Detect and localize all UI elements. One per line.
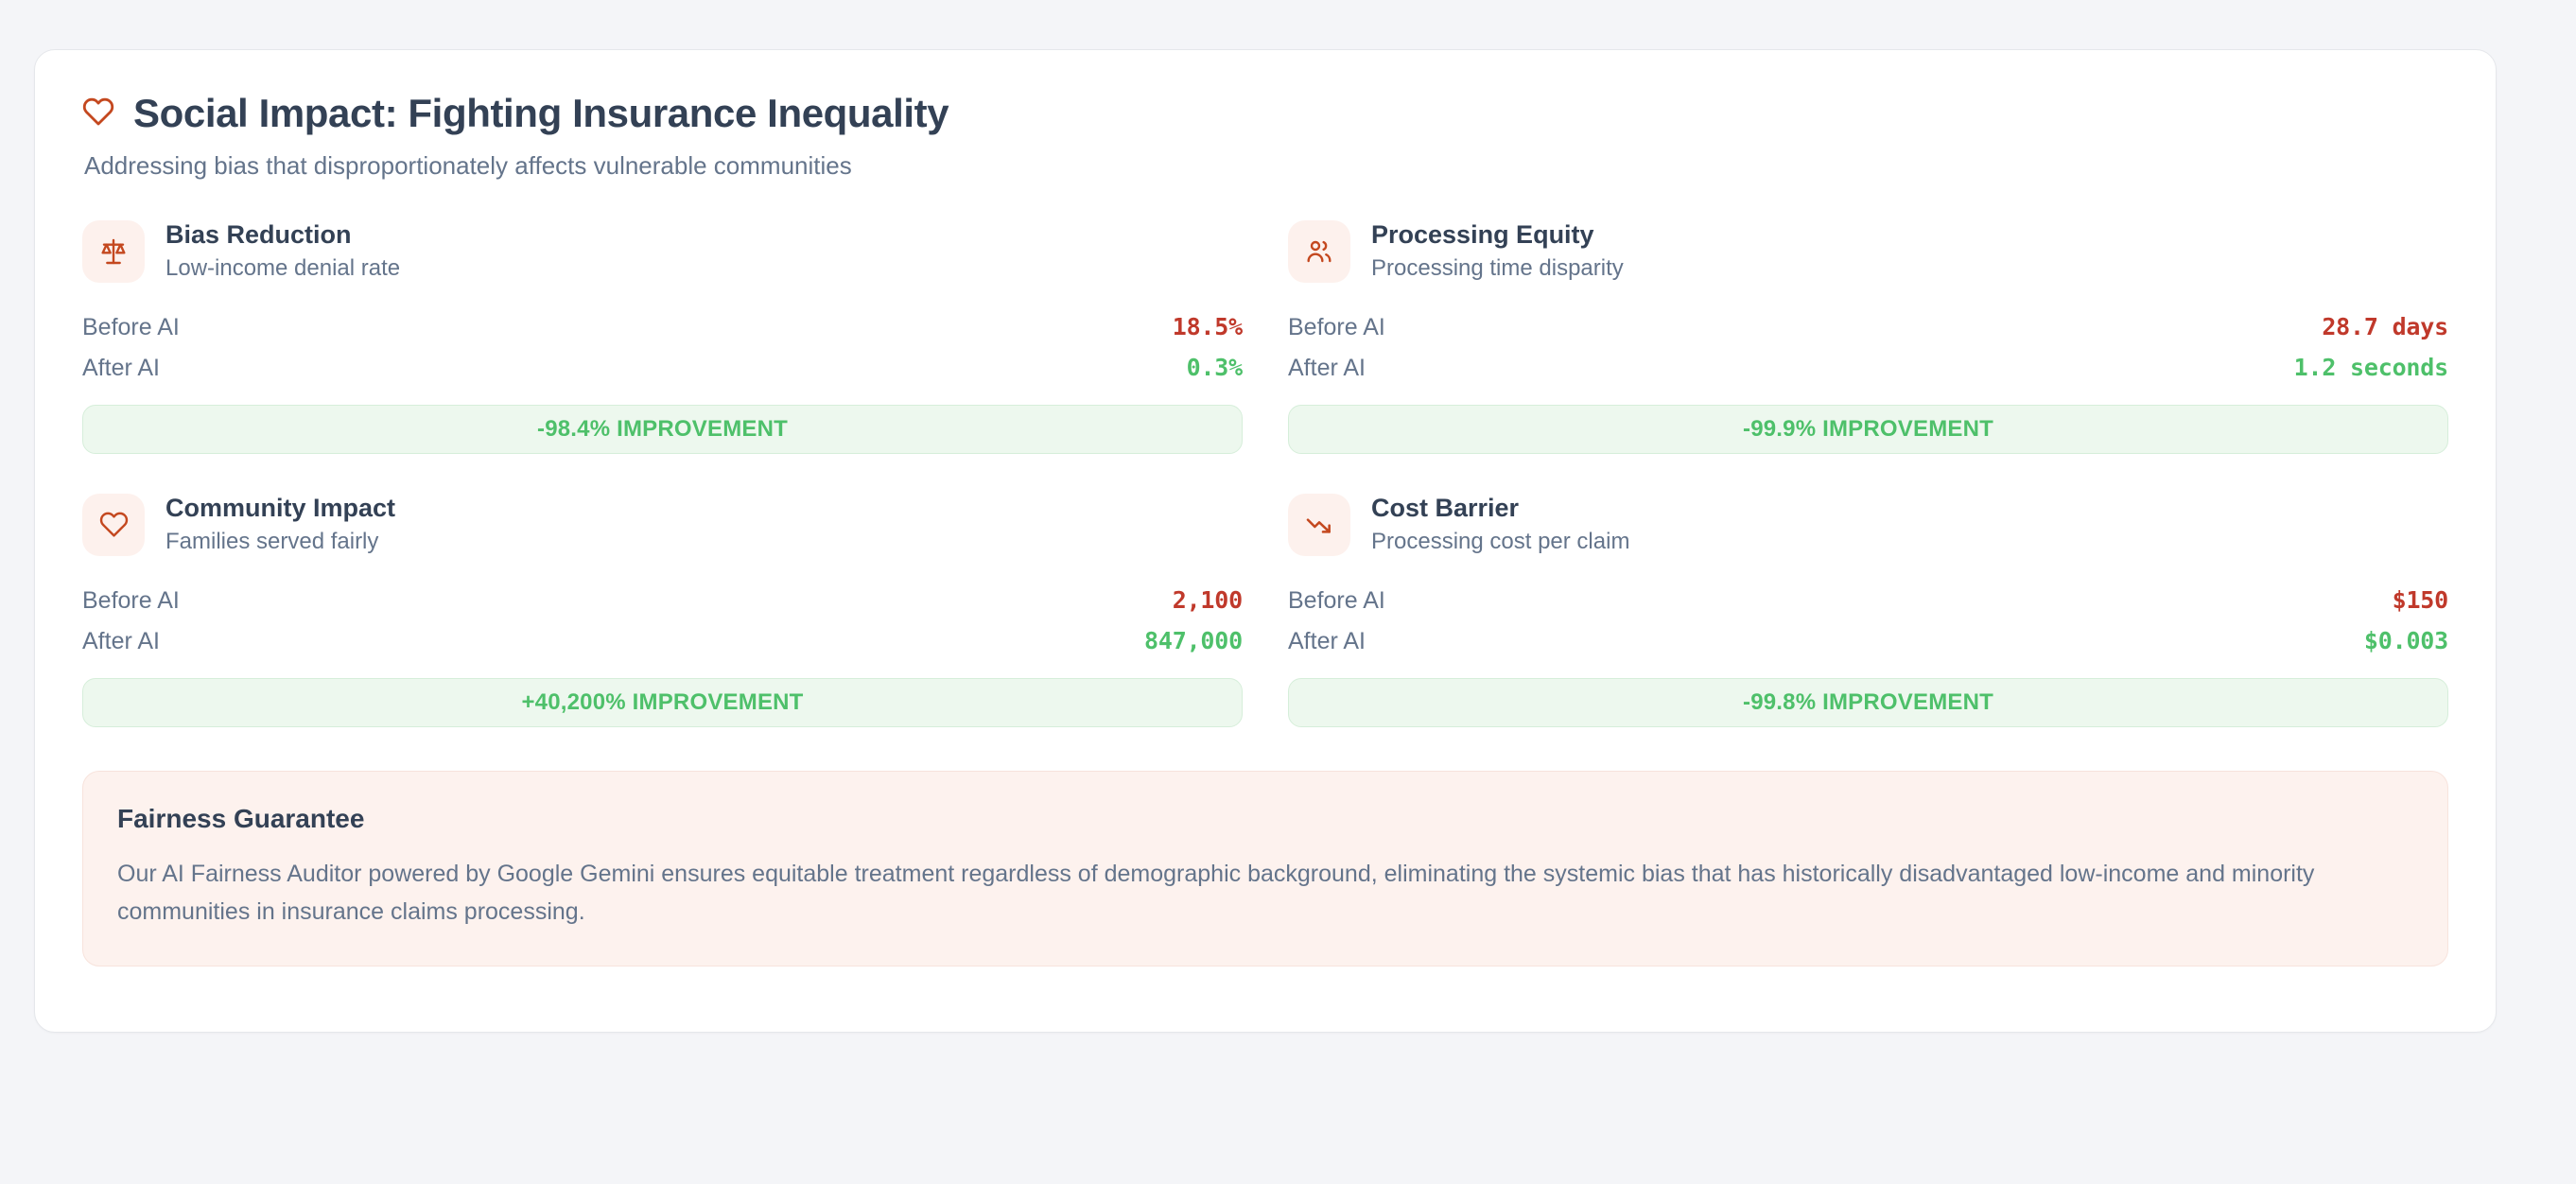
before-label: Before AI [1288, 587, 1385, 615]
metric-row-before: Before AI 2,100 [82, 581, 1243, 621]
metric-heading: Bias Reduction Low-income denial rate [165, 221, 400, 281]
after-value: 847,000 [1144, 627, 1243, 654]
metric-card-cost-barrier: Cost Barrier Processing cost per claim B… [1288, 494, 2448, 727]
metric-name: Community Impact [165, 495, 395, 523]
before-value: 2,100 [1173, 586, 1243, 614]
metric-header: Bias Reduction Low-income denial rate [82, 220, 1243, 283]
improvement-badge: -98.4% IMPROVEMENT [82, 405, 1243, 454]
metric-row-after: After AI 847,000 [82, 621, 1243, 662]
before-label: Before AI [82, 587, 180, 615]
improvement-badge: -99.9% IMPROVEMENT [1288, 405, 2448, 454]
metric-description: Processing cost per claim [1371, 530, 1629, 554]
metric-heading: Processing Equity Processing time dispar… [1371, 221, 1624, 281]
metric-row-before: Before AI $150 [1288, 581, 2448, 621]
title-row: Social Impact: Fighting Insurance Inequa… [82, 92, 2448, 135]
before-value: $150 [2393, 586, 2448, 614]
metric-name: Bias Reduction [165, 221, 400, 250]
after-label: After AI [82, 355, 160, 382]
trending-down-icon [1288, 494, 1350, 556]
metric-description: Families served fairly [165, 530, 395, 554]
metric-card-community-impact: Community Impact Families served fairly … [82, 494, 1243, 727]
metric-name: Cost Barrier [1371, 495, 1629, 523]
metric-row-before: Before AI 18.5% [82, 307, 1243, 348]
metric-name: Processing Equity [1371, 221, 1624, 250]
metric-heading: Cost Barrier Processing cost per claim [1371, 495, 1629, 554]
metric-heading: Community Impact Families served fairly [165, 495, 395, 554]
scales-balance-icon [82, 220, 145, 283]
before-label: Before AI [1288, 314, 1385, 341]
metric-header: Community Impact Families served fairly [82, 494, 1243, 556]
metric-card-bias-reduction: Bias Reduction Low-income denial rate Be… [82, 220, 1243, 454]
metric-row-after: After AI $0.003 [1288, 621, 2448, 662]
metric-description: Processing time disparity [1371, 256, 1624, 281]
before-label: Before AI [82, 314, 180, 341]
heart-icon [82, 494, 145, 556]
after-label: After AI [1288, 628, 1366, 655]
social-impact-panel: Social Impact: Fighting Insurance Inequa… [34, 49, 2497, 1033]
heart-icon [82, 96, 114, 132]
fairness-guarantee-body: Our AI Fairness Auditor powered by Googl… [117, 855, 2413, 932]
metric-grid: Bias Reduction Low-income denial rate Be… [82, 220, 2448, 727]
metric-row-after: After AI 1.2 seconds [1288, 348, 2448, 389]
after-label: After AI [82, 628, 160, 655]
metric-card-processing-equity: Processing Equity Processing time dispar… [1288, 220, 2448, 454]
after-value: 1.2 seconds [2294, 354, 2448, 381]
metric-description: Low-income denial rate [165, 256, 400, 281]
metric-header: Processing Equity Processing time dispar… [1288, 220, 2448, 283]
after-value: 0.3% [1187, 354, 1243, 381]
before-value: 28.7 days [2322, 313, 2448, 340]
page-subtitle: Addressing bias that disproportionately … [84, 150, 2448, 183]
users-group-icon [1288, 220, 1350, 283]
after-value: $0.003 [2364, 627, 2448, 654]
before-value: 18.5% [1173, 313, 1243, 340]
metric-row-before: Before AI 28.7 days [1288, 307, 2448, 348]
panel-header: Social Impact: Fighting Insurance Inequa… [82, 92, 2448, 183]
page-root: Social Impact: Fighting Insurance Inequa… [0, 0, 2576, 1184]
metric-row-after: After AI 0.3% [82, 348, 1243, 389]
improvement-badge: +40,200% IMPROVEMENT [82, 678, 1243, 727]
after-label: After AI [1288, 355, 1366, 382]
page-title: Social Impact: Fighting Insurance Inequa… [133, 92, 949, 135]
fairness-guarantee-title: Fairness Guarantee [117, 804, 2413, 834]
metric-header: Cost Barrier Processing cost per claim [1288, 494, 2448, 556]
improvement-badge: -99.8% IMPROVEMENT [1288, 678, 2448, 727]
fairness-guarantee-panel: Fairness Guarantee Our AI Fairness Audit… [82, 771, 2448, 966]
